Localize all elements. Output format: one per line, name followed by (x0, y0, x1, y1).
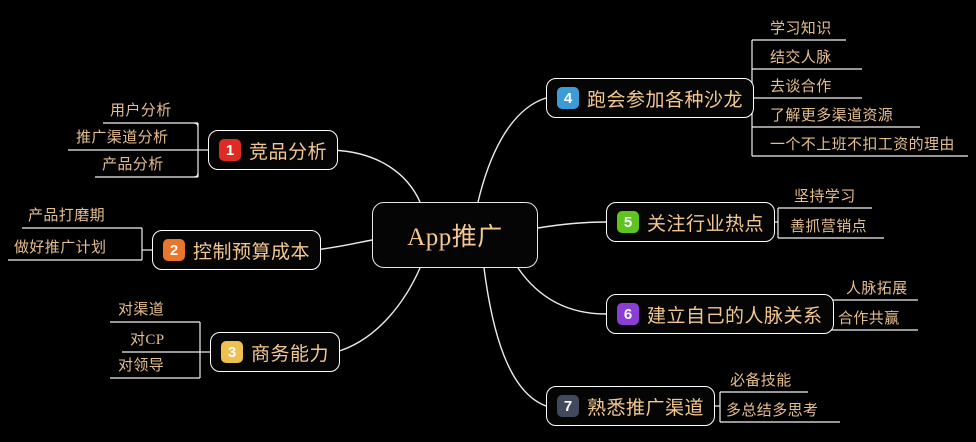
leaf-4-4[interactable]: 一个不上班不扣工资的理由 (770, 138, 955, 153)
branch-node-2[interactable]: 2 控制预算成本 (152, 230, 321, 270)
leaf-3-1[interactable]: 对CP (130, 333, 165, 348)
leaf-7-0[interactable]: 必备技能 (730, 374, 792, 389)
branch-node-3[interactable]: 3 商务能力 (210, 332, 340, 372)
leaf-4-2[interactable]: 去谈合作 (770, 80, 832, 95)
connector-center-to-7 (484, 268, 546, 406)
center-node-label: App推广 (407, 217, 503, 253)
center-node[interactable]: App推广 (372, 202, 538, 268)
branch-label-7: 熟悉推广渠道 (587, 393, 704, 420)
branch-badge-5: 5 (617, 211, 639, 233)
leaf-4-3[interactable]: 了解更多渠道资源 (770, 109, 893, 124)
branch-badge-3: 3 (221, 341, 243, 363)
leaf-4-1[interactable]: 结交人脉 (770, 51, 832, 66)
branch-label-1: 竞品分析 (249, 137, 327, 164)
leaf-2-0[interactable]: 产品打磨期 (28, 209, 105, 224)
connector-center-to-5 (538, 222, 606, 228)
branch-label-6: 建立自己的人脉关系 (647, 301, 823, 328)
branch-badge-4: 4 (557, 87, 579, 109)
branch-node-7[interactable]: 7 熟悉推广渠道 (546, 386, 715, 426)
leaf-6-0[interactable]: 人脉拓展 (846, 282, 908, 297)
leaf-3-2[interactable]: 对领导 (118, 359, 164, 374)
connector-center-to-3 (336, 268, 420, 352)
branch-badge-1: 1 (219, 139, 241, 161)
connector-center-to-2 (314, 240, 372, 250)
mindmap-canvas: App推广 1 竞品分析 用户分析 推广渠道分析 产品分析 2 控制预算成本 产… (0, 0, 976, 442)
leaf-6-1[interactable]: 合作共赢 (838, 312, 900, 327)
branch-label-4: 跑会参加各种沙龙 (587, 85, 743, 112)
leaf-4-0[interactable]: 学习知识 (770, 22, 832, 37)
branch-node-6[interactable]: 6 建立自己的人脉关系 (606, 294, 834, 334)
bracket-1-corner-top (194, 123, 198, 127)
leaf-7-1[interactable]: 多总结多思考 (726, 404, 818, 419)
leaf-2-1[interactable]: 做好推广计划 (14, 241, 106, 256)
leaf-3-0[interactable]: 对渠道 (118, 303, 164, 318)
branch-badge-7: 7 (557, 395, 579, 417)
connector-center-to-6 (518, 268, 606, 314)
bracket-1-corner-bot (194, 173, 198, 177)
branch-node-1[interactable]: 1 竞品分析 (208, 130, 338, 170)
branch-label-5: 关注行业热点 (647, 209, 764, 236)
leaf-1-1[interactable]: 推广渠道分析 (76, 131, 168, 146)
leaf-1-2[interactable]: 产品分析 (102, 158, 164, 173)
branch-badge-2: 2 (163, 239, 185, 261)
connector-center-to-4 (478, 98, 546, 202)
leaf-5-1[interactable]: 善抓营销点 (790, 220, 867, 235)
leaf-1-0[interactable]: 用户分析 (110, 104, 172, 119)
branch-label-2: 控制预算成本 (193, 237, 310, 264)
branch-node-4[interactable]: 4 跑会参加各种沙龙 (546, 78, 754, 118)
branch-badge-6: 6 (617, 303, 639, 325)
leaf-5-0[interactable]: 坚持学习 (794, 190, 856, 205)
branch-node-5[interactable]: 5 关注行业热点 (606, 202, 775, 242)
branch-label-3: 商务能力 (251, 339, 329, 366)
connector-center-to-1 (332, 150, 420, 202)
